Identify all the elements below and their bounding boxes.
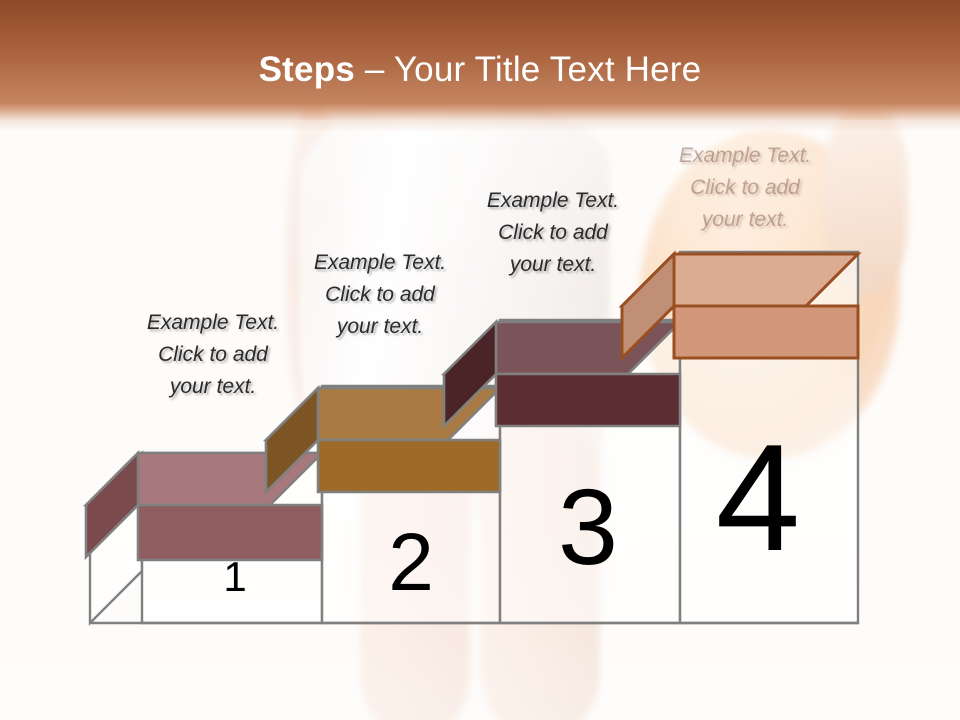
step-block-2-front [318, 440, 500, 492]
step-number-1: 1 [175, 556, 295, 598]
step-number-4: 4 [668, 422, 848, 574]
page-title-strong: Steps [259, 50, 355, 89]
step-number-2: 2 [341, 522, 481, 604]
step-number-3: 3 [508, 473, 668, 581]
slide-canvas: 1 2 3 4 Example Text. Click to add your … [0, 0, 960, 720]
step-caption-4[interactable]: Example Text. Click to add your text. [620, 140, 870, 236]
step-block-4-front [674, 306, 858, 358]
title-band: Steps – Your Title Text Here [0, 0, 960, 132]
page-title-rest: – Your Title Text Here [355, 50, 701, 89]
step-block-3-front [496, 374, 680, 426]
page-title: Steps – Your Title Text Here [0, 50, 960, 90]
step-block-1-front [138, 505, 322, 560]
